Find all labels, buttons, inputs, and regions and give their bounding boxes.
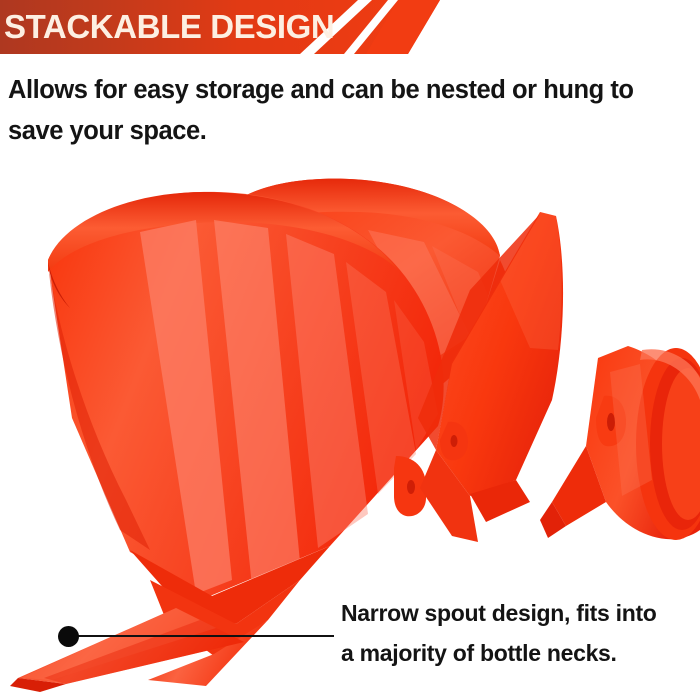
banner-title: STACKABLE DESIGN: [4, 3, 334, 51]
section-banner: STACKABLE DESIGN: [0, 0, 440, 54]
callout-line-1: Narrow spout design, fits into: [341, 600, 657, 627]
funnel-small: [540, 346, 700, 540]
product-feature-graphic: STACKABLE DESIGN Allows for easy storage…: [0, 0, 700, 700]
callout-dot-marker: [58, 626, 79, 647]
description-line-1: Allows for easy storage and can be neste…: [8, 76, 634, 105]
callout-leader-line: [72, 635, 334, 637]
callout-line-2: a majority of bottle necks.: [341, 640, 617, 667]
funnel-large-front: [48, 192, 444, 656]
description-line-2: save your space.: [8, 117, 206, 146]
